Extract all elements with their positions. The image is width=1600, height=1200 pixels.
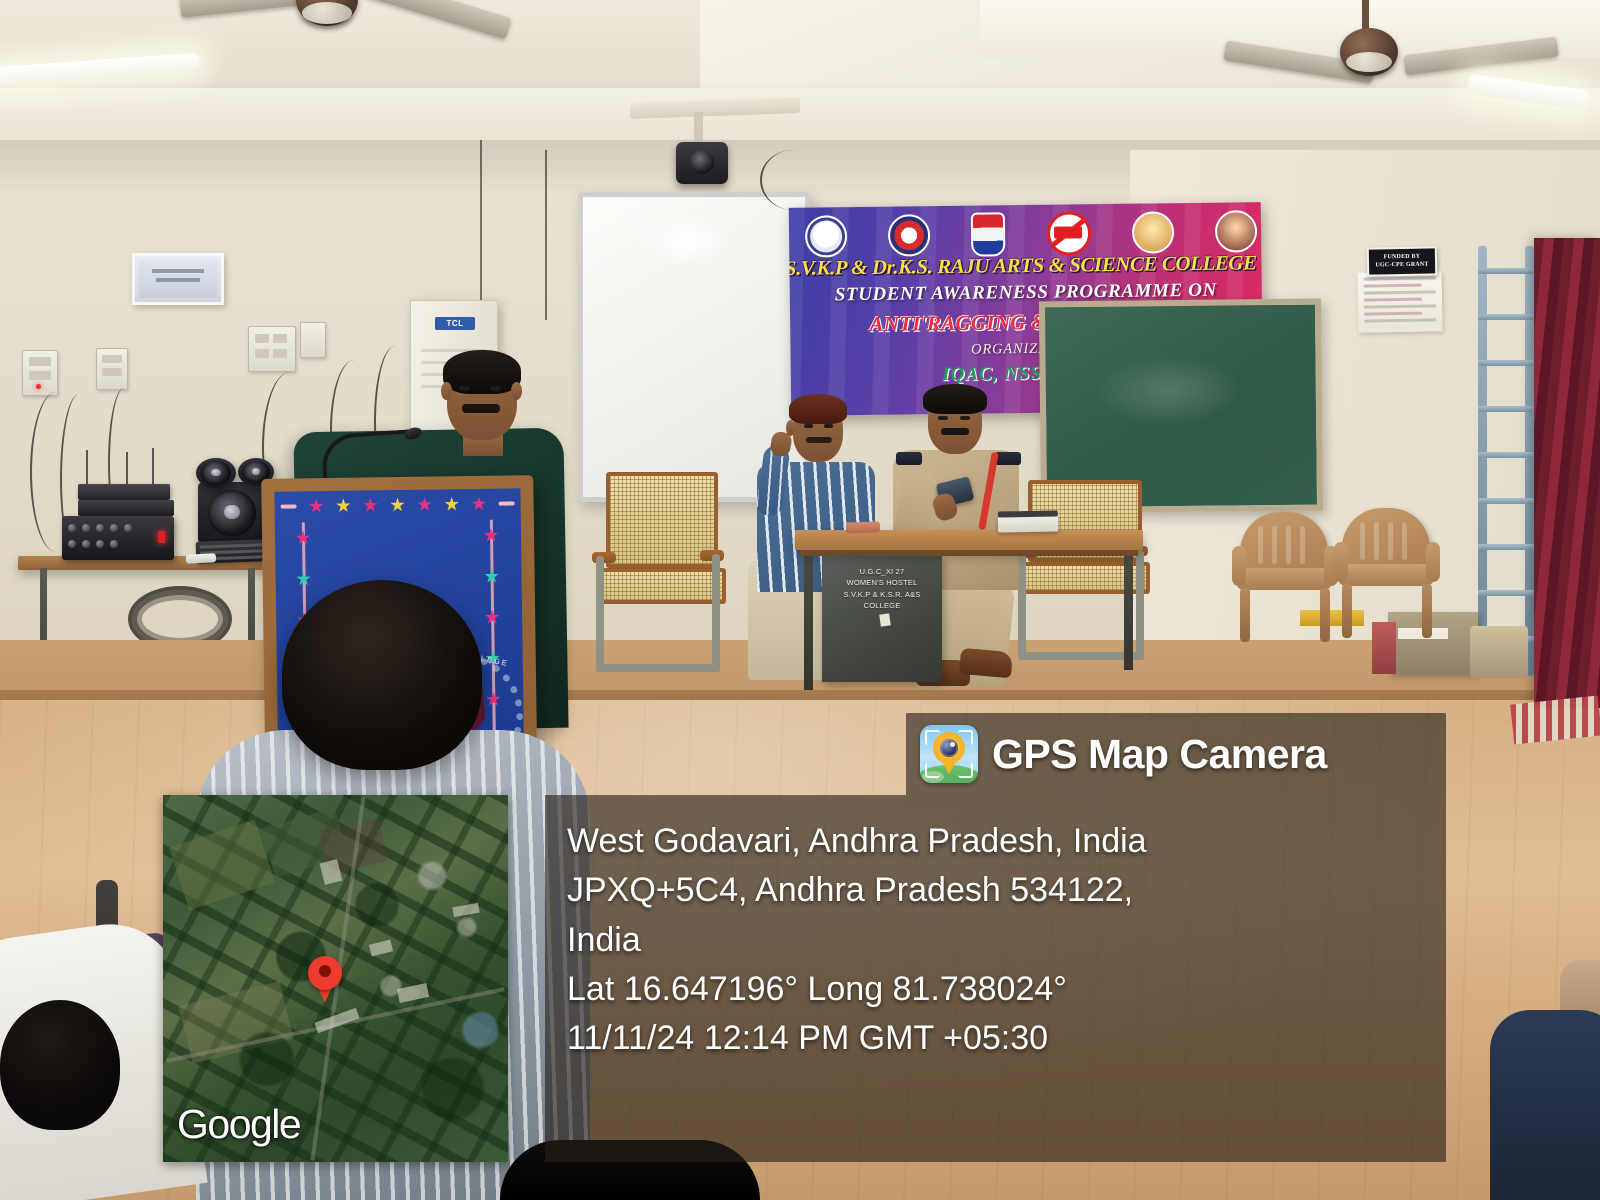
officer-moustache — [941, 428, 969, 435]
table-front-panel: U.G.C_XI 27 WOMEN'S HOSTEL S.V.K.P & K.S… — [822, 556, 942, 682]
receiver-antenna-3 — [152, 448, 154, 488]
metal-ladder — [1478, 246, 1534, 676]
speaker-moustache — [462, 404, 500, 413]
panel-line-3: S.V.K.P & K.S.R. A&S COLLEGE — [826, 589, 938, 612]
map-thumbnail[interactable]: Google — [163, 795, 508, 1162]
wireless-receiver-2 — [78, 500, 174, 516]
banner-logo-row — [799, 210, 1263, 258]
power-socket-4 — [300, 322, 326, 358]
wall-plaque — [132, 253, 224, 305]
seated-man-moustache — [806, 437, 832, 443]
wireless-receiver-1 — [78, 484, 170, 500]
officer-hair — [923, 384, 987, 414]
officer-epaulet-left — [896, 452, 922, 465]
power-socket-3 — [248, 326, 296, 372]
emblem-wheel-logo — [888, 214, 931, 257]
gps-timestamp-line: 11/11/24 12:14 PM GMT +05:30 — [567, 1014, 1446, 1063]
gps-country-line: India — [567, 916, 1446, 965]
gps-coordinates-line: Lat 16.647196° Long 81.738024° — [567, 965, 1446, 1014]
gps-map-camera-icon — [920, 725, 978, 783]
power-socket-1 — [22, 350, 58, 396]
notice-sheet — [1357, 271, 1442, 332]
screenshot-root: S.V.K.P & Dr.K.S. RAJU ARTS & SCIENCE CO… — [0, 0, 1600, 1200]
ceiling-wire — [480, 140, 482, 300]
speaker-satellite-1 — [196, 458, 236, 488]
projector-cable — [760, 150, 826, 210]
notebook-on-table — [998, 515, 1058, 532]
projector-lens — [690, 150, 714, 174]
no-ragging-logo — [1046, 211, 1091, 256]
seated-man-hair — [789, 394, 847, 424]
yellow-box — [1300, 610, 1364, 626]
projector — [676, 142, 728, 184]
red-box — [1372, 622, 1396, 674]
gps-overlay-info-panel: West Godavari, Andhra Pradesh, India JPX… — [545, 795, 1446, 1162]
audience-member-front-head — [282, 580, 482, 770]
funded-by-sign: FUNDED BY UGC-CPE GRANT — [1367, 246, 1437, 276]
power-socket-2 — [96, 348, 128, 390]
panel-tag — [879, 613, 891, 626]
panel-line-2: WOMEN'S HOSTEL — [826, 577, 938, 588]
gps-location-line: West Godavari, Andhra Pradesh, India — [567, 817, 1446, 866]
ncc-shield-logo — [971, 212, 1006, 256]
college-crest-logo — [805, 215, 848, 258]
gps-overlay-title-bar: GPS Map Camera — [906, 713, 1446, 795]
receiver-antenna-2 — [126, 452, 128, 488]
panel-line-1: U.G.C_XI 27 — [826, 566, 938, 577]
table-leg-left — [804, 550, 813, 690]
table-leg-right — [1124, 550, 1133, 670]
anti-drugs-logo — [1132, 211, 1175, 254]
map-location-pin — [308, 956, 342, 990]
gps-app-title: GPS Map Camera — [992, 731, 1327, 778]
ceiling-wire-2 — [545, 150, 547, 320]
audio-amplifier — [62, 516, 174, 560]
phone-on-table — [846, 521, 880, 533]
cardboard-box — [1388, 612, 1478, 674]
projector-arm — [694, 112, 703, 146]
officer-shoe-right — [959, 648, 1013, 678]
audience-member-right — [1490, 1010, 1600, 1200]
podium-top-decoration — [274, 488, 520, 521]
google-watermark: Google — [177, 1101, 300, 1148]
officer-epaulet-right — [995, 452, 1021, 465]
speaker-subwoofer — [198, 482, 268, 544]
speaker-hair — [443, 350, 521, 394]
receiver-antenna-1 — [86, 450, 88, 488]
funded-sign-line2: UGC-CPE GRANT — [1375, 261, 1428, 269]
remote-control — [186, 553, 216, 564]
cabinet-label: TCL — [435, 317, 475, 330]
gps-plus-code-line: JPXQ+5C4, Andhra Pradesh 534122, — [567, 866, 1446, 915]
police-crest-logo — [1215, 210, 1258, 253]
wicker-basket — [1470, 626, 1528, 678]
audience-member-left-head — [0, 1000, 120, 1130]
window-curtain — [1534, 238, 1600, 708]
